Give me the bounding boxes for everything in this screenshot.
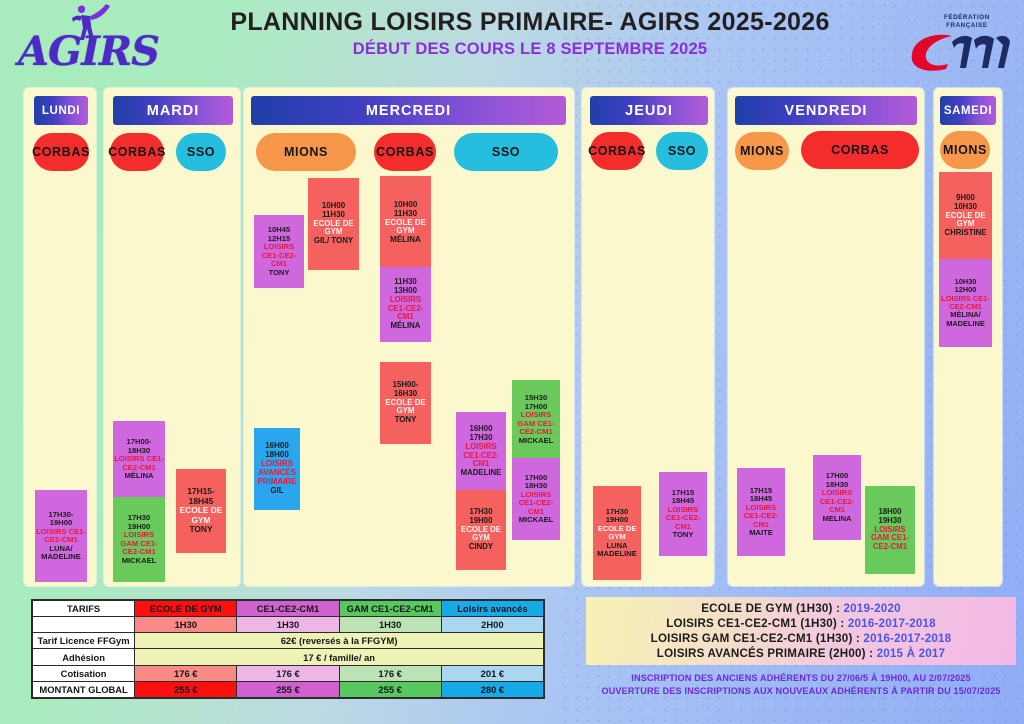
tariff-duration-ecole: 1H30 [135,617,237,633]
age-group-separator: : [837,617,848,630]
tariff-adhesion-value: 17 € / famille/ an [135,649,544,665]
age-group-name: ECOLE DE GYM [701,602,792,615]
class-card[interactable]: 17H0018H30LOISIRS CE1-CE2-CM1MELINA [813,455,861,540]
tariff-total-gam: 255 € [339,681,441,697]
class-card[interactable]: 17H30-19H00LOISIRS CE1-CE2-CM1LUNA/ MADE… [35,490,87,582]
class-card[interactable]: 10H3012H00LOISIRS CE1-CE2-CM1MÉLINA/ MAD… [939,259,992,347]
tariff-duration-label [33,617,135,633]
class-card[interactable]: 17H15-18H45ECOLE DE GYMTONY [176,469,226,553]
class-label: ECOLE DE GYM [381,219,430,237]
age-group-duration: (1H30) [816,632,853,645]
class-card[interactable]: 10H0011H30ECOLE DE GYMMÉLINA [380,176,431,270]
tariff-col-avances: Loisirs avancés [441,601,543,617]
class-coach: LUNA/ MADELINE [36,545,86,562]
class-card[interactable]: 17H3019H00LOISIRS GAM CE1-CE2-CM1MICKAEL [113,497,165,582]
agirs-logo-text: AGIRS [18,28,159,75]
day-header-lundi: LUNDI [34,96,88,125]
class-coach: MÉLINA [390,236,421,245]
site-badge-corbas[interactable]: CORBAS [110,133,164,171]
class-card[interactable]: 17H1518H45LOISIRS CE1-CE2-CM1MAITE [737,468,785,556]
class-card[interactable]: 9H0010H30ECOLE DE GYMCHRISTINE [939,172,992,260]
class-coach: CHRISTINE [944,229,986,238]
tariff-duration-row: 1H30 1H30 1H30 2H00 [33,617,544,633]
class-label: LOISIRS CE1-CE2-CM1 [36,528,86,545]
site-badge-corbas[interactable]: CORBAS [590,132,644,170]
planning-poster: AGIRS PLANNING LOISIRS PRIMAIRE- AGIRS 2… [0,0,1024,724]
tariff-cotisation-ecole: 176 € [135,665,237,681]
class-label: ECOLE DE GYM [940,212,991,229]
age-group-years: 2016-2017-2018 [863,632,951,645]
site-badge-corbas[interactable]: CORBAS [33,133,89,171]
age-group-line: LOISIRS GAM CE1-CE2-CM1 (1H30) : 2016-20… [651,632,952,645]
tariff-licence-label: Tarif Licence FFGym [33,633,135,649]
class-coach: MÉLINA [391,322,421,331]
age-group-years: 2019-2020 [844,602,901,615]
class-label: LOISIRS CE1-CE2-CM1 [513,491,559,517]
page-subtitle: DÉBUT DES COURS LE 8 SEPTEMBRE 2025 [150,40,910,59]
class-card[interactable]: 17H1518H45LOISIRS CE1-CE2-CM1TONY [659,472,707,556]
tariff-title: TARIFS [33,601,135,617]
class-coach: MÉLINA [124,472,153,481]
class-card[interactable]: 17H3019H00ECOLE DE GYMCINDY [456,490,506,570]
site-badge-sso[interactable]: SSO [656,132,708,170]
site-badge-mions[interactable]: MIONS [735,132,789,170]
tariff-col-ce: CE1-CE2-CM1 [237,601,339,617]
day-header-jeudi: JEUDI [590,96,708,125]
class-label: ECOLE DE GYM [457,526,505,543]
class-card[interactable]: 11H3013H00LOISIRS CE1-CE2-CM1MÉLINA [380,267,431,342]
age-groups-panel: ECOLE DE GYM (1H30) : 2019-2020LOISIRS C… [586,597,1016,665]
class-coach: MICKAEL [519,437,554,446]
tariff-adhesion-label: Adhésion [33,649,135,665]
tariff-cotisation-gam: 176 € [339,665,441,681]
tariff-duration-avances: 2H00 [441,617,543,633]
site-badge-mions[interactable]: MIONS [940,131,990,169]
class-label: LOISIRS CE1-CE2-CM1 [660,506,706,532]
ffgym-swoosh-icon [908,24,1016,74]
age-group-separator: : [833,602,844,615]
day-header-mercredi: MERCREDI [251,96,566,125]
title-block: PLANNING LOISIRS PRIMAIRE- AGIRS 2025-20… [150,8,910,59]
tariff-cotisation-row: Cotisation 176 € 176 € 176 € 201 € [33,665,544,681]
registration-note: OUVERTURE DES INSCRIPTIONS AUX NOUVEAUX … [601,685,1000,698]
age-group-duration: (1H30) [800,617,837,630]
age-group-line: LOISIRS AVANCÉS PRIMAIRE (2H00) : 2015 À… [657,647,945,660]
age-group-duration: (1H30) [796,602,833,615]
class-coach: GIL/ TONY [314,237,353,246]
site-badge-sso[interactable]: SSO [454,133,558,171]
ffgym-federation-text: FÉDÉRATIONFRANÇAISE [944,14,990,29]
class-card[interactable]: 18H0019H30LOISIRS GAM CE1-CE2-CM1 [865,486,915,574]
class-card[interactable]: 15H00-16H30ECOLE DE GYMTONY [380,362,431,444]
class-coach: MÉLINA/ MADELINE [940,311,991,328]
class-card[interactable]: 10H0011H30ECOLE DE GYMGIL/ TONY [308,178,359,270]
ffgym-logo: FÉDÉRATIONFRANÇAISE [908,4,1018,64]
age-group-separator: : [866,647,877,660]
class-coach: TONY [395,416,417,425]
class-coach: TONY [269,269,290,278]
poster-header: AGIRS PLANNING LOISIRS PRIMAIRE- AGIRS 2… [0,0,1024,84]
class-card[interactable]: 16H0018H00LOISIRS AVANCÉS PRIMAIREGIL [254,428,300,510]
tariff-table: TARIFS ECOLE DE GYM CE1-CE2-CM1 GAM CE1-… [31,599,545,699]
class-label: LOISIRS CE1-CE2-CM1 [381,296,430,322]
class-coach: MAITE [749,529,773,538]
class-label: ECOLE DE GYM [309,220,358,238]
site-badge-corbas[interactable]: CORBAS [374,133,436,171]
class-coach: MADELINE [461,469,502,478]
age-group-line: LOISIRS CE1-CE2-CM1 (1H30) : 2016-2017-2… [666,617,936,630]
tariff-licence-row: Tarif Licence FFGym 62€ (reversés à la F… [33,633,544,649]
class-label: LOISIRS CE1-CE2-CM1 [738,504,784,530]
site-badge-mions[interactable]: MIONS [256,133,356,171]
class-card[interactable]: 17H0018H30LOISIRS CE1-CE2-CM1MICKAEL [512,458,560,540]
class-label: LOISIRS GAM CE1-CE2-CM1 [114,531,164,557]
tariff-cotisation-label: Cotisation [33,665,135,681]
tariff-adhesion-row: Adhésion 17 € / famille/ an [33,649,544,665]
class-label: LOISIRS CE1-CE2-CM1 [457,443,505,469]
registration-notes: INSCRIPTION DES ANCIENS ADHÉRENTS DU 27/… [586,668,1016,702]
age-group-name: LOISIRS CE1-CE2-CM1 [666,617,797,630]
registration-note: INSCRIPTION DES ANCIENS ADHÉRENTS DU 27/… [631,672,970,685]
day-header-samedi: SAMEDI [940,96,996,125]
tariff-duration-gam: 1H30 [339,617,441,633]
day-header-mardi: MARDI [113,96,233,125]
page-title: PLANNING LOISIRS PRIMAIRE- AGIRS 2025-20… [150,8,910,37]
class-card[interactable]: 15H3017H00LOISIRS GAM CE1-CE2-CM1MICKAEL [512,380,560,459]
tariff-total-avances: 280 € [441,681,543,697]
age-group-years: 2016-2017-2018 [848,617,936,630]
class-card[interactable]: 10H4512H15LOISIRS CE1-CE2-CM1TONY [254,215,304,288]
class-label: LOISIRS CE1-CE2-CM1 [114,455,164,472]
class-label: ECOLE DE GYM [177,506,225,525]
class-label: LOISIRS CE1-CE2-CM1 [814,489,860,515]
class-card[interactable]: 17H3019H00ECOLE DE GYMLUNA MADELINE [593,486,641,580]
tariff-total-label: MONTANT GLOBAL [33,681,135,697]
class-label: LOISIRS CE1-CE2-CM1 [255,243,303,269]
tariff-licence-value: 62€ (reversés à la FFGYM) [135,633,544,649]
class-coach: CINDY [469,543,493,552]
tariff-total-ecole: 255 € [135,681,237,697]
tariff-cotisation-avances: 201 € [441,665,543,681]
age-group-line: ECOLE DE GYM (1H30) : 2019-2020 [701,602,901,615]
class-card[interactable]: 16H0017H30LOISIRS CE1-CE2-CM1MADELINE [456,412,506,491]
tariff-total-ce: 255 € [237,681,339,697]
class-label: ECOLE DE GYM [381,399,430,417]
tariff-col-gam: GAM CE1-CE2-CM1 [339,601,441,617]
class-label: LOISIRS AVANCÉS PRIMAIRE [255,460,299,487]
class-label: LOISIRS GAM CE1-CE2-CM1 [513,411,559,437]
tariff-header-row: TARIFS ECOLE DE GYM CE1-CE2-CM1 GAM CE1-… [33,601,544,617]
class-coach: TONY [673,531,694,540]
site-badge-sso[interactable]: SSO [176,133,226,171]
class-label: ECOLE DE GYM [594,525,640,542]
class-coach: MELINA [822,515,851,524]
age-group-years: 2015 À 2017 [877,647,946,660]
age-group-name: LOISIRS GAM CE1-CE2-CM1 [651,632,813,645]
class-label: LOISIRS GAM CE1-CE2-CM1 [866,526,914,552]
day-header-vendredi: VENDREDI [735,96,917,125]
age-group-duration: (2H00) [829,647,866,660]
class-label: LOISIRS CE1-CE2-CM1 [940,295,991,312]
class-coach: MICKAEL [122,557,157,566]
agirs-logo: AGIRS [18,6,136,78]
tariff-col-ecole: ECOLE DE GYM [135,601,237,617]
age-group-name: LOISIRS AVANCÉS PRIMAIRE [657,647,826,660]
site-badge-corbas[interactable]: CORBAS [801,131,919,169]
class-coach: MICKAEL [519,516,554,525]
class-card[interactable]: 17H00-18H30LOISIRS CE1-CE2-CM1MÉLINA [113,421,165,498]
tariff-cotisation-ce: 176 € [237,665,339,681]
age-group-separator: : [853,632,864,645]
class-coach: LUNA MADELINE [594,542,640,559]
tariff-total-row: MONTANT GLOBAL 255 € 255 € 255 € 280 € [33,681,544,697]
tariff-duration-ce: 1H30 [237,617,339,633]
class-coach: GIL [270,487,283,496]
class-coach: TONY [189,525,212,534]
